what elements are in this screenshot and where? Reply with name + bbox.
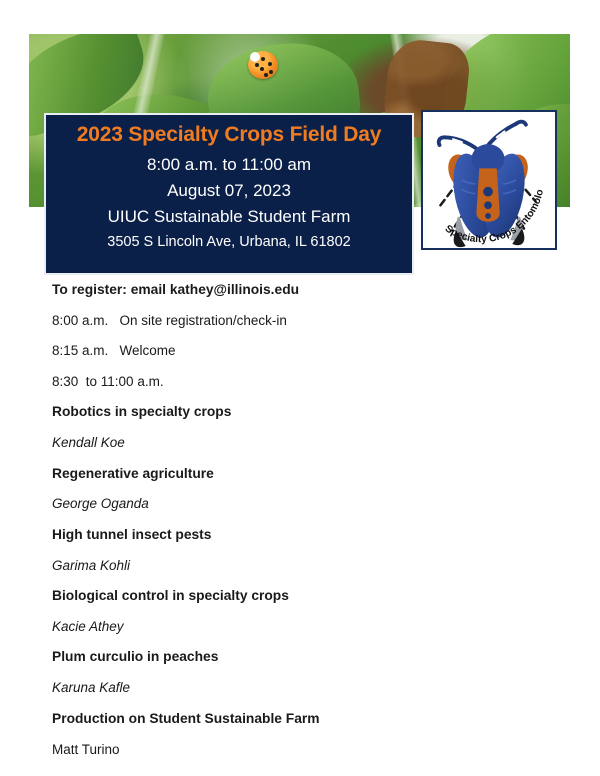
insect-logo-graphic: Specialty Crops Entomology Lab [423,112,555,248]
schedule-row: 8:15 a.m. Welcome [52,344,572,358]
register-instruction: To register: email kathey@illinois.edu [52,283,572,297]
session-topic: High tunnel insect pests [52,528,572,542]
agenda-section: To register: email kathey@illinois.edu 8… [52,283,572,773]
schedule-row: 8:00 a.m. On site registration/check-in [52,314,572,328]
session-topic: Production on Student Sustainable Farm [52,712,572,726]
session-topic: Plum curculio in peaches [52,650,572,664]
session-speaker: George Oganda [52,497,572,511]
session-speaker: Karuna Kafle [52,681,572,695]
event-date: August 07, 2023 [56,178,402,204]
session-topic: Biological control in specialty crops [52,589,572,603]
session-speaker: Kacie Athey [52,620,572,634]
session-topic: Regenerative agriculture [52,467,572,481]
event-title: 2023 Specialty Crops Field Day [56,123,402,148]
event-address: 3505 S Lincoln Ave, Urbana, IL 61802 [56,231,402,254]
flyer-page: { "hero": { "photo_alt": "strawberry-lea… [0,0,600,776]
session-topic: Robotics in specialty crops [52,405,572,419]
session-speaker: Garima Kohli [52,559,572,573]
specialty-crops-entomology-lab-logo: Specialty Crops Entomology Lab [421,110,557,250]
session-speaker: Matt Turino [52,743,572,757]
event-time: 8:00 a.m. to 11:00 am [56,152,402,178]
schedule-row: 8:30 to 11:00 a.m. [52,375,572,389]
session-speaker: Kendall Koe [52,436,572,450]
event-venue: UIUC Sustainable Student Farm [56,204,402,230]
event-title-panel: 2023 Specialty Crops Field Day 8:00 a.m.… [44,113,414,275]
